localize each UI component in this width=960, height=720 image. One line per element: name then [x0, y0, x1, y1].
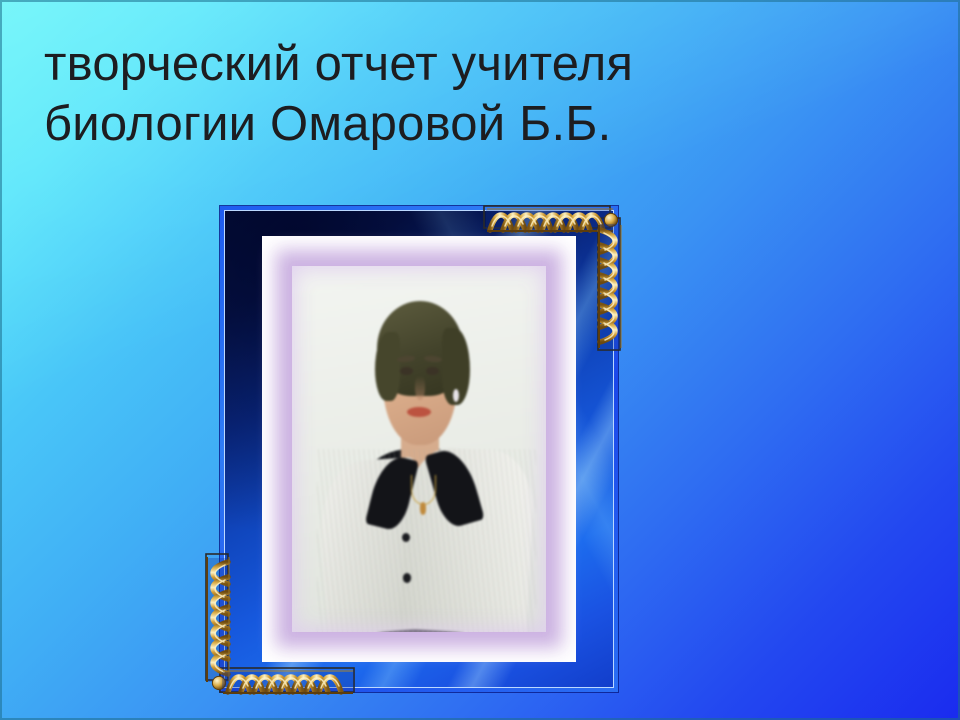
slide-title: творческий отчет учителя биологии Омаров…	[44, 34, 874, 155]
rope-strands-vertical	[599, 224, 621, 350]
presentation-slide: творческий отчет учителя биологии Омаров…	[0, 0, 960, 720]
gold-rope-corner-bottom-left	[190, 540, 368, 720]
rope-strands-vertical	[207, 557, 229, 682]
gold-rope-corner-top-right	[470, 190, 638, 370]
rope-strands-horizontal	[486, 209, 613, 231]
rope-strands-horizontal	[222, 671, 354, 693]
